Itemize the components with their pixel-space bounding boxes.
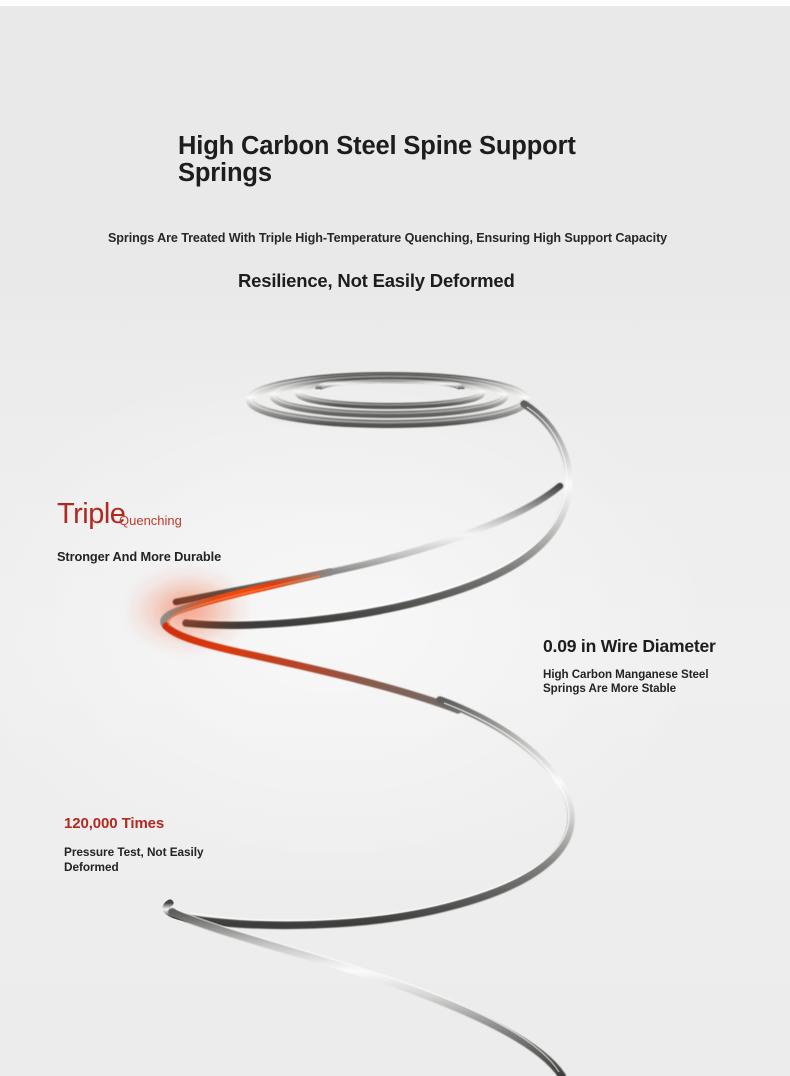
annotation-pressure-title: 120,000 Times [64,816,284,831]
annotation-pressure-subtext-line1: Pressure Test, Not Easily [64,845,284,860]
page-title: High Carbon Steel Spine Support Springs [178,133,598,186]
headline-block: High Carbon Steel Spine Support Springs [178,133,598,186]
annotation-wire-subtext-line2: Springs Are More Stable [543,682,773,697]
annotation-pressure-subtext-line2: Deformed [64,860,284,875]
annotation-wire-subtext-line1: High Carbon Manganese Steel [543,668,773,683]
annotation-triple-headline: Triple Quenching [57,503,287,533]
annotation-triple-subtext: Stronger And More Durable [57,549,221,564]
annotation-wire-title: 0.09 in Wire Diameter [543,638,773,656]
annotation-triple-big-word: Triple [57,500,125,529]
annotation-pressure-subtext: Pressure Test, Not Easily Deformed [64,845,284,876]
annotation-wire-subtext: High Carbon Manganese Steel Springs Are … [543,668,773,698]
annotation-wire-diameter: 0.09 in Wire Diameter High Carbon Mangan… [543,638,773,697]
annotation-triple-quenching: Triple Quenching Stronger And More Durab… [57,503,287,533]
top-white-strip [0,0,790,6]
product-marketing-image: High Carbon Steel Spine Support Springs … [0,0,790,1076]
annotation-pressure-test: 120,000 Times Pressure Test, Not Easily … [64,816,284,876]
subheadline: Springs Are Treated With Triple High-Tem… [108,231,667,245]
annotation-triple-small-word: Quenching [119,514,182,527]
tagline: Resilience, Not Easily Deformed [238,270,515,292]
